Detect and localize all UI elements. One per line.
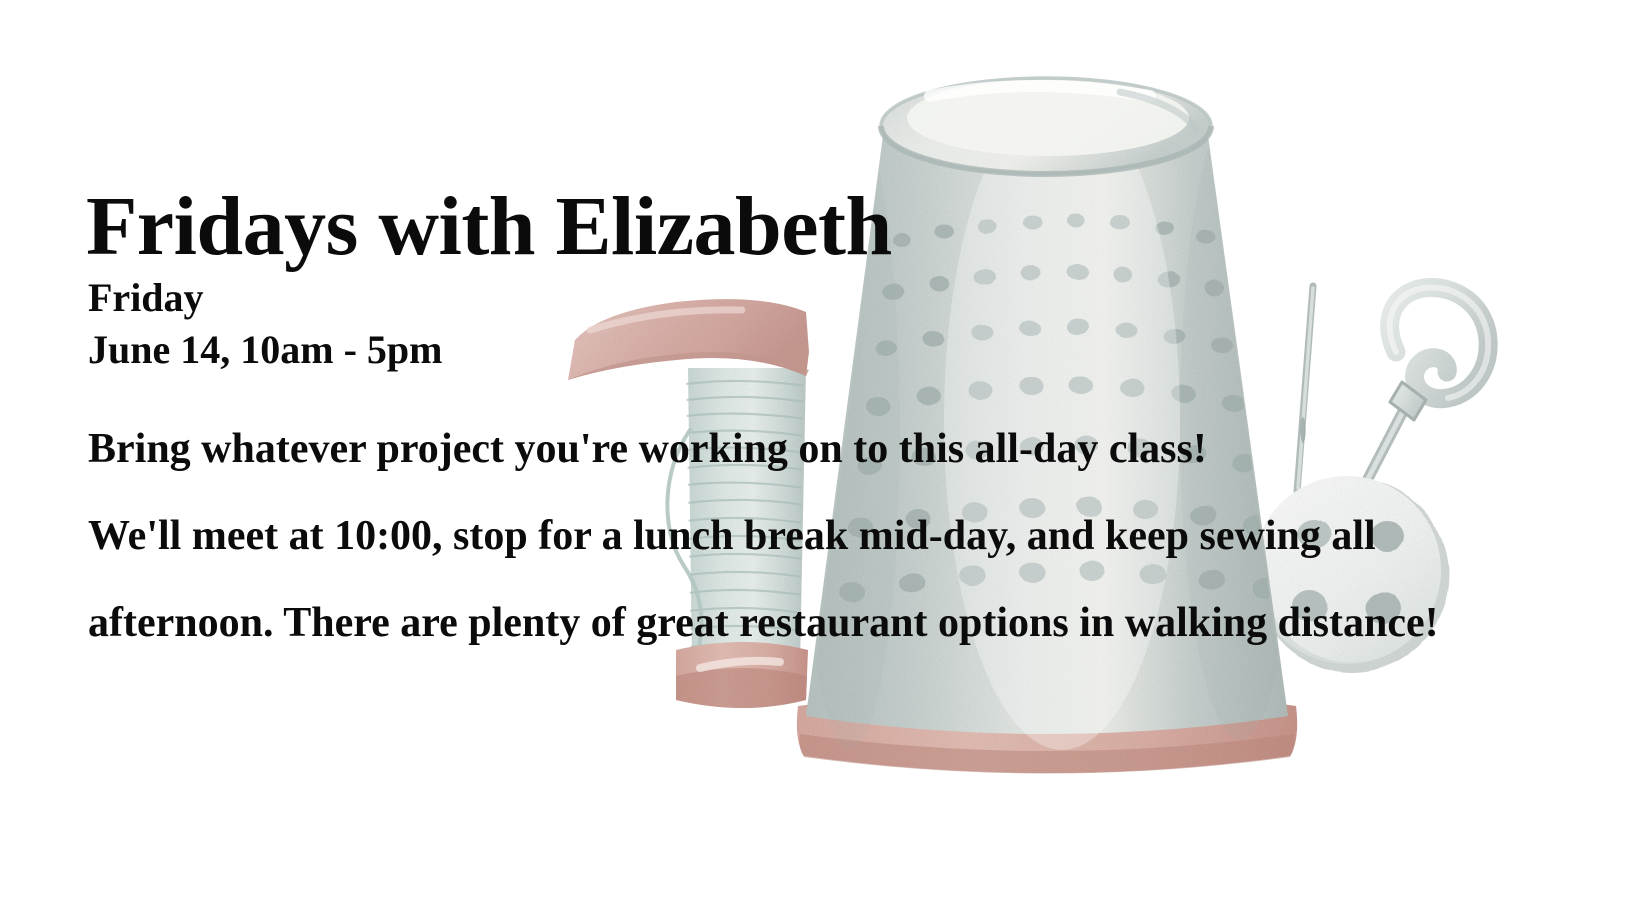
body-paragraph-2: We'll meet at 10:00, stop for a lunch br… xyxy=(88,493,1488,667)
schedule-day: Friday xyxy=(88,272,442,324)
text-layer: Fridays with Elizabeth Friday June 14, 1… xyxy=(0,0,1650,900)
schedule-block: Friday June 14, 10am - 5pm xyxy=(88,272,442,376)
poster-canvas: Fridays with Elizabeth Friday June 14, 1… xyxy=(0,0,1650,900)
schedule-date-time: June 14, 10am - 5pm xyxy=(88,324,442,376)
body-copy: Bring whatever project you're working on… xyxy=(88,406,1518,667)
page-title: Fridays with Elizabeth xyxy=(86,185,892,269)
body-paragraph-1: Bring whatever project you're working on… xyxy=(88,406,1518,493)
